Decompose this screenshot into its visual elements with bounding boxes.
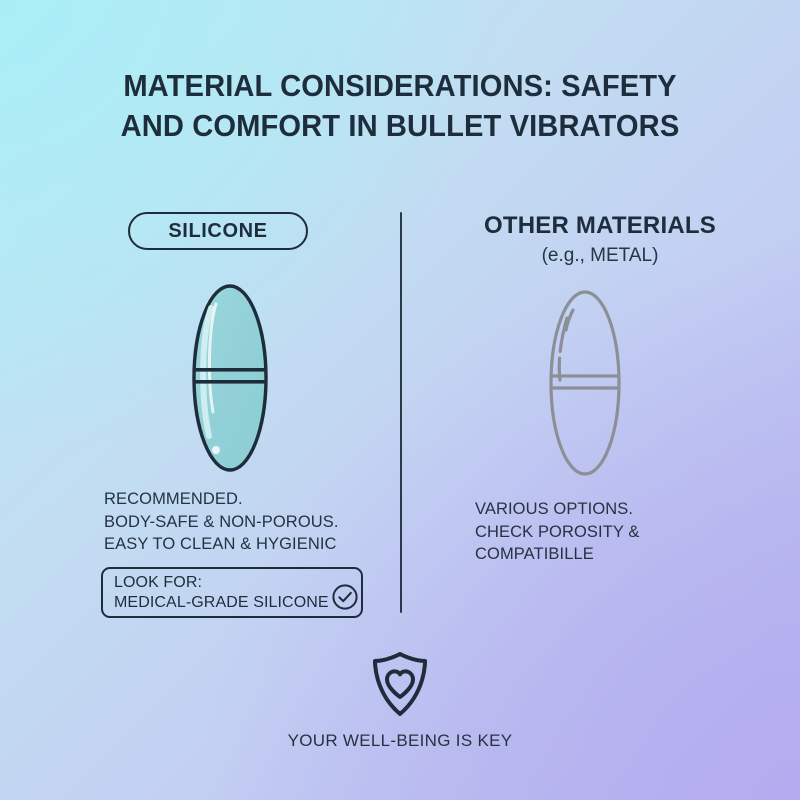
footer-caption: YOUR WELL-BEING IS KEY [0,731,800,751]
look-for-line-1: LOOK FOR: [114,573,329,593]
silicone-body-line-1: RECOMMENDED. [104,488,339,511]
metal-bullet-illustration [535,288,635,483]
look-for-line-2: MEDICAL-GRADE SILICONE [114,593,329,613]
look-for-callout: LOOK FOR: MEDICAL-GRADE SILICONE [101,567,363,618]
title-line-1: MATERIAL CONSIDERATIONS: SAFETY [24,66,776,106]
silicone-body-line-3: EASY TO CLEAN & HYGIENIC [104,533,339,556]
column-divider [400,212,402,613]
title-line-2: AND COMFORT IN BULLET VIBRATORS [24,106,776,146]
other-materials-heading: OTHER MATERIALS [420,212,780,240]
silicone-badge-label: SILICONE [168,220,267,243]
other-materials-subheading: (e.g., METAL) [420,243,780,269]
infographic-canvas: MATERIAL CONSIDERATIONS: SAFETY AND COMF… [0,0,800,800]
other-materials-heading-block: OTHER MATERIALS (e.g., METAL) [420,212,780,269]
look-for-text: LOOK FOR: MEDICAL-GRADE SILICONE [114,573,329,613]
silicone-badge: SILICONE [128,212,308,250]
other-materials-body-line-1: VARIOUS OPTIONS. [475,498,640,521]
silicone-bullet-illustration [178,282,282,479]
other-materials-body-text: VARIOUS OPTIONS. CHECK POROSITY & COMPAT… [475,498,640,566]
silicone-body-text: RECOMMENDED. BODY-SAFE & NON-POROUS. EAS… [104,488,339,556]
other-materials-body-line-3: COMPATIBILLE [475,543,640,566]
page-title: MATERIAL CONSIDERATIONS: SAFETY AND COMF… [24,66,776,146]
shield-heart-icon [369,650,431,720]
circle-check-icon [331,583,359,611]
silicone-body-line-2: BODY-SAFE & NON-POROUS. [104,511,339,534]
other-materials-body-line-2: CHECK POROSITY & [475,521,640,544]
